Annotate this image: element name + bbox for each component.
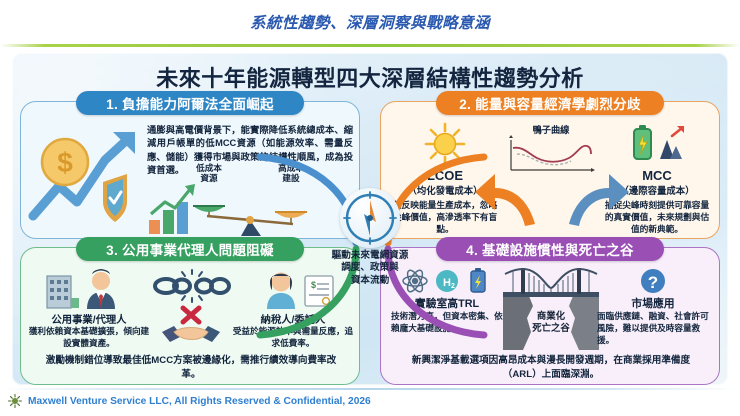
slide-header: 系統性趨勢、深層洞察與戰略意涵	[0, 0, 740, 44]
panel-2-divergence-arrows	[473, 162, 633, 232]
svg-text:?: ?	[648, 273, 658, 292]
center-hub: 驅動未來電網資源調度、政策與資本流動	[306, 188, 434, 306]
panel-3-misalignment-icons	[151, 270, 231, 346]
slide-footer: Maxwell Venture Service LLC, All Rights …	[0, 388, 740, 414]
panel-4-market-column: ? 市場應用 面臨供應鏈、融資、社會許可風險，難以提供及時容量救援。	[593, 268, 713, 347]
utility-agent-icon	[43, 268, 135, 310]
panel-3-utility-description: 獲利依賴資本基礎擴張，傾向建設實體資產。	[25, 326, 153, 350]
slide-canvas: 系統性趨勢、深層洞察與戰略意涵 未來十年能源轉型四大深層結構性趨勢分析 1. 負…	[0, 0, 740, 416]
header-divider	[0, 44, 740, 47]
panel-2-duck-curve-label: 鴨子曲線	[497, 122, 605, 136]
panel-1-icon-group: $	[29, 124, 147, 234]
battery-bolt-icon	[626, 122, 688, 166]
panel-3-utility-label: 公用事業/代理人	[25, 311, 153, 326]
slide-header-title: 系統性趨勢、深層洞察與戰略意涵	[250, 11, 490, 33]
svg-text:$: $	[57, 147, 73, 178]
panel-3-utility-column: 公用事業/代理人 獲利依賴資本基礎擴張，傾向建設實體資產。	[25, 268, 153, 350]
infographic-board: 未來十年能源轉型四大深層結構性趨勢分析 1. 負擔能力阿爾法全面崛起	[12, 53, 728, 385]
panel-1-title: 1. 負擔能力阿爾法全面崛起	[76, 91, 304, 115]
question-mark-icon: ?	[636, 268, 670, 294]
maxwell-logo-icon	[8, 394, 22, 408]
panel-4-market-description: 面臨供應鏈、融資、社會許可風險，難以提供及時容量救援。	[593, 311, 713, 347]
compass-icon	[340, 188, 400, 248]
center-hub-caption: 驅動未來電網資源調度、政策與資本流動	[306, 250, 434, 287]
scale-left-label: 低成本資源	[186, 164, 232, 184]
panel-2-title: 2. 能量與容量經濟學劇烈分歧	[436, 91, 664, 115]
footer-copyright: Maxwell Venture Service LLC, All Rights …	[28, 396, 371, 407]
panel-4-bridge-icon	[503, 266, 599, 350]
panel-4-valley-label: 商業化死亡之谷	[503, 310, 599, 334]
panel-4-market-label: 市場應用	[593, 295, 713, 311]
panel-3-footer-note: 激勵機制錯位導致最佳低MCC方案被邊緣化，需推行績效導向費率改革。	[37, 354, 345, 381]
board-title: 未來十年能源轉型四大深層結構性趨勢分析	[12, 61, 728, 93]
panel-4-footer-note: 新興潔淨基載選項因高昂成本與漫長開發週期，在商業採用準備度（ARL）上面臨深淵。	[395, 354, 707, 381]
